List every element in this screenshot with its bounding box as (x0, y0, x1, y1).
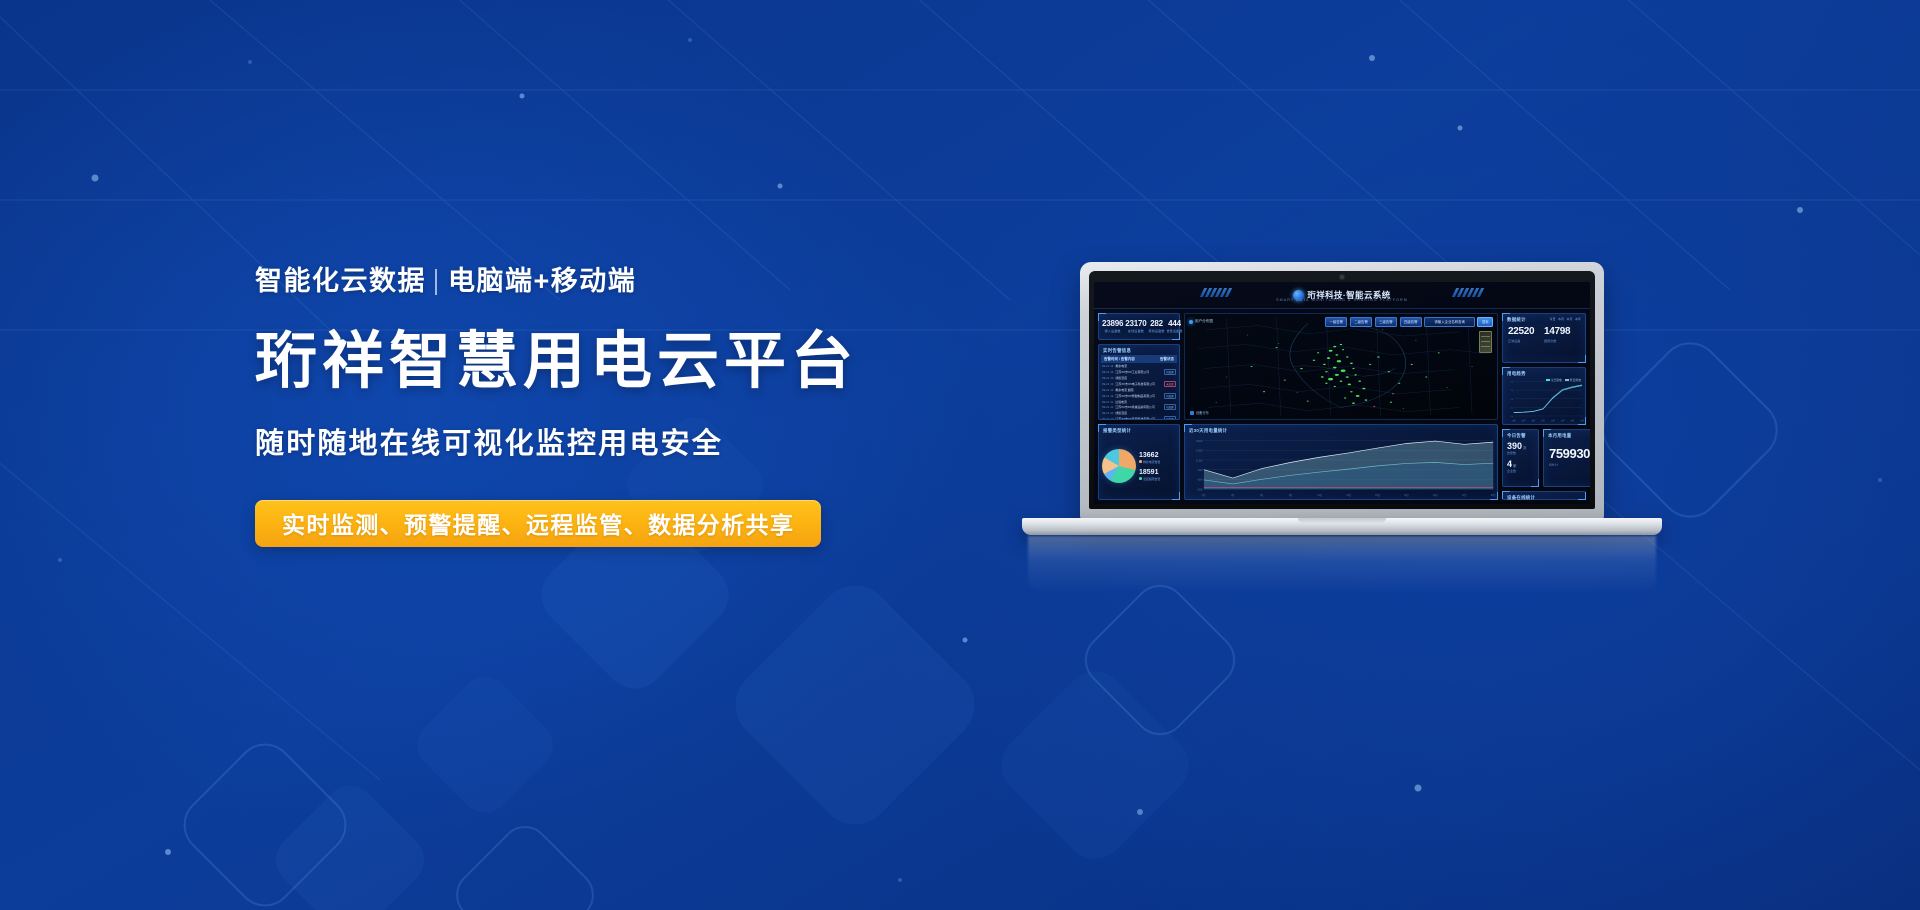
alarm-row[interactable]: 09-21 12剩余电流 超限 (1102, 388, 1176, 392)
trend-legend-yesterday: 昨日用电 (1565, 378, 1581, 382)
today-company-label: 企业数 (1507, 469, 1534, 473)
eyebrow-right-text: 电脑端+移动端 (448, 268, 636, 295)
alarm-message: 江苏XX市XX工业有限公司 (1115, 370, 1161, 374)
eyebrow-left-text: 智能化云数据 (255, 268, 426, 295)
today-alarm-value: 390次 (1507, 442, 1534, 451)
header-deco-right-icon (1454, 288, 1482, 297)
device-map-panel[interactable]: 用户分布图 一级告警 二级告警 三级告警 四级告警 请输入企业名称查询 搜索 (1184, 313, 1498, 420)
laptop-reflection (1028, 536, 1656, 594)
stat-value: 22520 (1508, 326, 1544, 337)
dashboard-header: 珩祥科技·智能云系统 SMART DATA MONITORING & SHARI… (1094, 282, 1590, 309)
alarm-row[interactable]: 09-21 14剩余电流 (1102, 364, 1176, 368)
svg-text:2k: 2k (1511, 407, 1514, 409)
svg-text:02时: 02时 (1512, 418, 1516, 422)
alarm-type-pie-panel: 报警类型统计 13662 剩余电流告警 (1098, 424, 1180, 500)
usage-area-chart-panel: 近30天用电量统计 18,00014,00011,0007,0004,0000,… (1184, 424, 1498, 500)
alarm-time: 09-21 11 (1102, 405, 1113, 409)
pie-value-list: 13662 剩余电流告警 18591 温度超限告警 (1139, 452, 1176, 481)
svg-text:7,000: 7,000 (1197, 470, 1203, 472)
trend-panel-title: 用电趋势 (1503, 368, 1585, 378)
kpi-item: 23170 在线设备数 (1125, 320, 1146, 333)
month-usage-panel: 本月用电量 75993000 KW·H (1543, 429, 1590, 487)
pie-chart-area: 13662 剩余电流告警 18591 温度超限告警 (1099, 435, 1179, 499)
pie-label: 剩余电流告警 (1139, 460, 1176, 464)
features-cta-button[interactable]: 实时监测、预警提醒、远程监管、数据分析共享 (255, 500, 821, 547)
stat-tab-year[interactable]: 本年 (1575, 317, 1581, 321)
laptop-mockup: 珩祥科技·智能云系统 SMART DATA MONITORING & SHARI… (1022, 262, 1662, 562)
svg-text:24日: 24日 (1433, 494, 1437, 497)
alarm-time: 09-21 12 (1102, 394, 1113, 398)
stat-label: 正常设备 (1508, 338, 1544, 343)
usage-area-chart: 18,00014,00011,0007,0004,0000,0001日3日6日9… (1185, 435, 1497, 499)
svg-text:18日: 18日 (1375, 494, 1379, 497)
month-usage-value: 75993000 (1544, 440, 1590, 461)
kpi-value: 23170 (1125, 320, 1146, 328)
alarm-time: 09-21 14 (1102, 370, 1113, 374)
svg-text:4,000: 4,000 (1197, 480, 1203, 482)
map-badge-icon (1190, 411, 1194, 415)
svg-text:11,000: 11,000 (1196, 460, 1203, 462)
eyebrow-line: 智能化云数据 电脑端+移动端 (255, 268, 1015, 295)
alarm-list[interactable]: 09-21 14剩余电流09-21 14江苏XX市XX工业有限公司已处理09-2… (1099, 363, 1179, 419)
right-duo-row: 今日告警 390次 告警数 4家 企业数 (1502, 429, 1586, 487)
device-online-bar-panel: 设备在线统计 1008060402001月2月3月4月5月6月7月8月9月10月… (1502, 491, 1586, 500)
stat-values-row: 22520 正常设备 14798 报警次数 (1503, 324, 1585, 345)
alarm-message: 江苏XX市XX电子科技有限公司 (1115, 382, 1161, 386)
map-filter-level4[interactable]: 四级告警 (1400, 317, 1422, 327)
alarm-message: 过载电流 (1115, 400, 1176, 404)
alarm-row[interactable]: 09-21 11过载电流 (1102, 400, 1176, 404)
alarm-message: 江苏XX市XX塑胶制品有限公司 (1115, 394, 1161, 398)
alarm-message: 剩余电流 (1115, 364, 1176, 368)
today-alarm-count: 390次 告警数 (1503, 440, 1538, 455)
svg-text:21日: 21日 (1404, 494, 1408, 497)
pie-value: 13662 (1139, 452, 1176, 459)
alarm-status-badge: 已处理 (1164, 404, 1176, 410)
kpi-value: 282 (1149, 320, 1165, 328)
eyebrow-divider (435, 269, 437, 295)
svg-text:17时: 17时 (1561, 418, 1565, 422)
svg-text:3日: 3日 (1231, 494, 1234, 497)
svg-text:9k: 9k (1511, 382, 1514, 384)
usage-trend-chart: 9k7k5k2k0k02时05时08时11时14时17时20时23时 (1503, 378, 1585, 424)
alarm-status-badge: 已处理 (1164, 416, 1176, 419)
alarm-time: 09-21 13 (1102, 382, 1113, 386)
stat-tab-month[interactable]: 本月 (1566, 317, 1572, 321)
svg-text:6日: 6日 (1260, 494, 1263, 497)
svg-text:05时: 05时 (1522, 418, 1526, 422)
alarm-message: 江苏XX市XX环保科技有限公司 (1115, 417, 1161, 419)
header-deco-left-icon (1202, 288, 1230, 297)
alarm-status-badge: 已处理 (1164, 393, 1176, 399)
month-usage-unit: KW·H (1544, 461, 1590, 467)
bar-panel-title: 设备在线统计 (1503, 492, 1585, 502)
alarm-col-right: 告警状态 (1160, 357, 1174, 362)
laptop-bezel: 珩祥科技·智能云系统 SMART DATA MONITORING & SHARI… (1089, 271, 1595, 509)
pie-value-item: 13662 剩余电流告警 (1139, 452, 1176, 464)
svg-text:30日: 30日 (1491, 494, 1495, 497)
kpi-strip: 23896 接入设备数 23170 在线设备数 282 离线设备数 (1098, 313, 1180, 340)
alarm-message: 剩余电流 超限 (1115, 388, 1176, 392)
today-panel-title: 今日告警 (1503, 430, 1538, 440)
alarm-message: 江苏XX市XX机械设备有限公司 (1115, 405, 1162, 409)
alarm-time: 09-21 13 (1102, 376, 1113, 380)
trend-legend: 今日用电 昨日用电 (1546, 378, 1581, 382)
page-title: 珩祥智慧用电云平台 (255, 329, 1015, 395)
data-statistics-panel: 数据统计 今日 本周 本月 本年 22520 (1502, 313, 1586, 363)
map-badge-label: 设备分布 (1196, 410, 1209, 415)
map-filter-level3[interactable]: 三级告警 (1375, 317, 1397, 327)
pie-value-item: 18591 温度超限告警 (1139, 469, 1176, 481)
pie-value: 18591 (1139, 469, 1176, 476)
map-legend: 用户分布图 (1189, 319, 1213, 324)
svg-text:20时: 20时 (1570, 418, 1574, 422)
kpi-item: 23896 接入设备数 (1102, 320, 1123, 333)
alarm-panel-title: 实时告警信息 (1099, 345, 1179, 355)
svg-text:14时: 14时 (1551, 418, 1555, 422)
stat-tab-today[interactable]: 今日 (1549, 317, 1555, 321)
map-filter-buttons: 一级告警 二级告警 三级告警 四级告警 请输入企业名称查询 搜索 (1325, 317, 1493, 327)
alarm-row[interactable]: 09-21 14江苏XX市XX工业有限公司已处理 (1102, 369, 1176, 375)
map-search-button[interactable]: 搜索 (1477, 317, 1493, 327)
alarm-type-pie-chart (1102, 449, 1136, 483)
hero-copy-block: 智能化云数据 电脑端+移动端 珩祥智慧用电云平台 随时随地在线可视化监控用电安全… (255, 268, 1015, 547)
alarm-list-header: 告警时间 / 告警内容 告警状态 (1101, 355, 1177, 363)
alarm-row[interactable]: 09-21 11江苏XX市XX机械设备有限公司已处理 (1102, 404, 1176, 410)
stat-period-tabs[interactable]: 今日 本周 本月 本年 (1549, 317, 1581, 321)
svg-text:18,000: 18,000 (1196, 441, 1203, 443)
dashboard-subtitle: SMART DATA MONITORING & SHARING PLATFORM (1276, 298, 1408, 302)
kpi-label: 告警设备数 (1166, 328, 1182, 333)
alarm-message: 线缆温度 (1115, 411, 1176, 415)
svg-text:5k: 5k (1511, 399, 1514, 401)
kpi-label: 在线设备数 (1125, 328, 1146, 333)
alarm-time: 09-21 12 (1102, 388, 1113, 392)
pie-panel-title: 报警类型统计 (1099, 425, 1179, 435)
alarm-time: 09-21 10 (1102, 411, 1113, 415)
dashboard-right-column: 数据统计 今日 本周 本月 本年 22520 (1502, 313, 1586, 500)
dashboard-body: 23896 接入设备数 23170 在线设备数 282 离线设备数 (1094, 309, 1590, 504)
kpi-item: 282 离线设备数 (1149, 320, 1165, 333)
svg-text:14,000: 14,000 (1196, 450, 1203, 452)
dashboard-screen: 珩祥科技·智能云系统 SMART DATA MONITORING & SHARI… (1094, 282, 1590, 504)
alarm-message: 线缆温度 (1115, 376, 1176, 380)
stat-label: 报警次数 (1544, 338, 1580, 343)
dashboard-center-column: 用户分布图 一级告警 二级告警 三级告警 四级告警 请输入企业名称查询 搜索 (1184, 313, 1498, 500)
map-minimap-thumbnail[interactable] (1479, 331, 1492, 353)
map-legend-label: 用户分布图 (1195, 319, 1213, 324)
svg-text:15日: 15日 (1346, 494, 1350, 497)
month-panel-title: 本月用电量 (1544, 430, 1590, 440)
today-company-count: 4家 企业数 (1503, 458, 1538, 473)
today-alarm-label: 告警数 (1507, 451, 1534, 455)
svg-text:0,000: 0,000 (1197, 489, 1203, 491)
stat-tab-week[interactable]: 本周 (1558, 317, 1564, 321)
alarm-row[interactable]: 09-21 10线缆温度 (1102, 411, 1176, 415)
map-filter-level2[interactable]: 二级告警 (1350, 317, 1372, 327)
kpi-label: 离线设备数 (1149, 328, 1165, 333)
usage-trend-panel: 用电趋势 今日用电 昨日用电 9k7k5k2k0k02时05时08时11时14时… (1502, 367, 1586, 425)
svg-text:1日: 1日 (1202, 494, 1205, 497)
alarm-time: 09-21 14 (1102, 364, 1113, 368)
alarm-col-left: 告警时间 / 告警内容 (1104, 357, 1135, 362)
svg-text:0k: 0k (1511, 416, 1514, 418)
kpi-label: 接入设备数 (1102, 328, 1123, 333)
alarm-status-badge: 已处理 (1164, 369, 1176, 375)
alarm-row[interactable]: 09-21 12江苏XX市XX塑胶制品有限公司已处理 (1102, 393, 1176, 399)
laptop-lid: 珩祥科技·智能云系统 SMART DATA MONITORING & SHARI… (1080, 262, 1604, 520)
map-filter-level1[interactable]: 一级告警 (1325, 317, 1347, 327)
kpi-value: 23896 (1102, 320, 1123, 328)
map-search-input[interactable]: 请输入企业名称查询 (1424, 317, 1475, 327)
today-company-value: 4家 (1507, 460, 1534, 469)
pie-label: 温度超限告警 (1139, 477, 1176, 481)
svg-text:23时: 23时 (1580, 418, 1584, 422)
laptop-base (1022, 518, 1662, 535)
stat-cell-normal: 22520 正常设备 (1508, 326, 1544, 343)
svg-text:08时: 08时 (1531, 418, 1535, 422)
svg-text:12日: 12日 (1317, 494, 1321, 497)
stat-cell-alarms: 14798 报警次数 (1544, 326, 1580, 343)
map-graphic (1185, 314, 1497, 419)
map-bottom-badge: 设备分布 (1190, 410, 1209, 415)
alarm-row[interactable]: 09-21 13江苏XX市XX电子科技有限公司未处理 (1102, 381, 1176, 387)
alarm-row[interactable]: 09-21 10江苏XX市XX环保科技有限公司已处理 (1102, 416, 1176, 419)
promo-banner: 智能化云数据 电脑端+移动端 珩祥智慧用电云平台 随时随地在线可视化监控用电安全… (0, 0, 1920, 910)
dashboard-left-column: 23896 接入设备数 23170 在线设备数 282 离线设备数 (1098, 313, 1180, 500)
alarm-time: 09-21 11 (1102, 400, 1113, 404)
svg-text:9日: 9日 (1289, 494, 1292, 497)
svg-text:11时: 11时 (1541, 418, 1545, 422)
svg-text:7k: 7k (1511, 390, 1514, 392)
alarm-time: 09-21 10 (1102, 417, 1113, 419)
map-toolbar: 用户分布图 一级告警 二级告警 三级告警 四级告警 请输入企业名称查询 搜索 (1189, 317, 1493, 327)
alarm-row[interactable]: 09-21 13线缆温度 (1102, 376, 1176, 380)
today-alarm-panel: 今日告警 390次 告警数 4家 企业数 (1502, 429, 1539, 487)
alarm-status-badge: 未处理 (1164, 381, 1176, 387)
kpi-value: 444 (1166, 320, 1182, 328)
webcam-icon (1340, 275, 1344, 279)
trend-legend-today: 今日用电 (1546, 378, 1562, 382)
stat-value: 14798 (1544, 326, 1580, 337)
map-legend-dot-icon (1189, 320, 1193, 324)
svg-text:27日: 27日 (1462, 494, 1466, 497)
kpi-item: 444 告警设备数 (1166, 320, 1182, 333)
alarm-list-panel: 实时告警信息 告警时间 / 告警内容 告警状态 09-21 14剩余电流09-2… (1098, 344, 1180, 420)
page-subtitle: 随时随地在线可视化监控用电安全 (255, 430, 1015, 459)
area-panel-title: 近30天用电量统计 (1185, 425, 1497, 435)
